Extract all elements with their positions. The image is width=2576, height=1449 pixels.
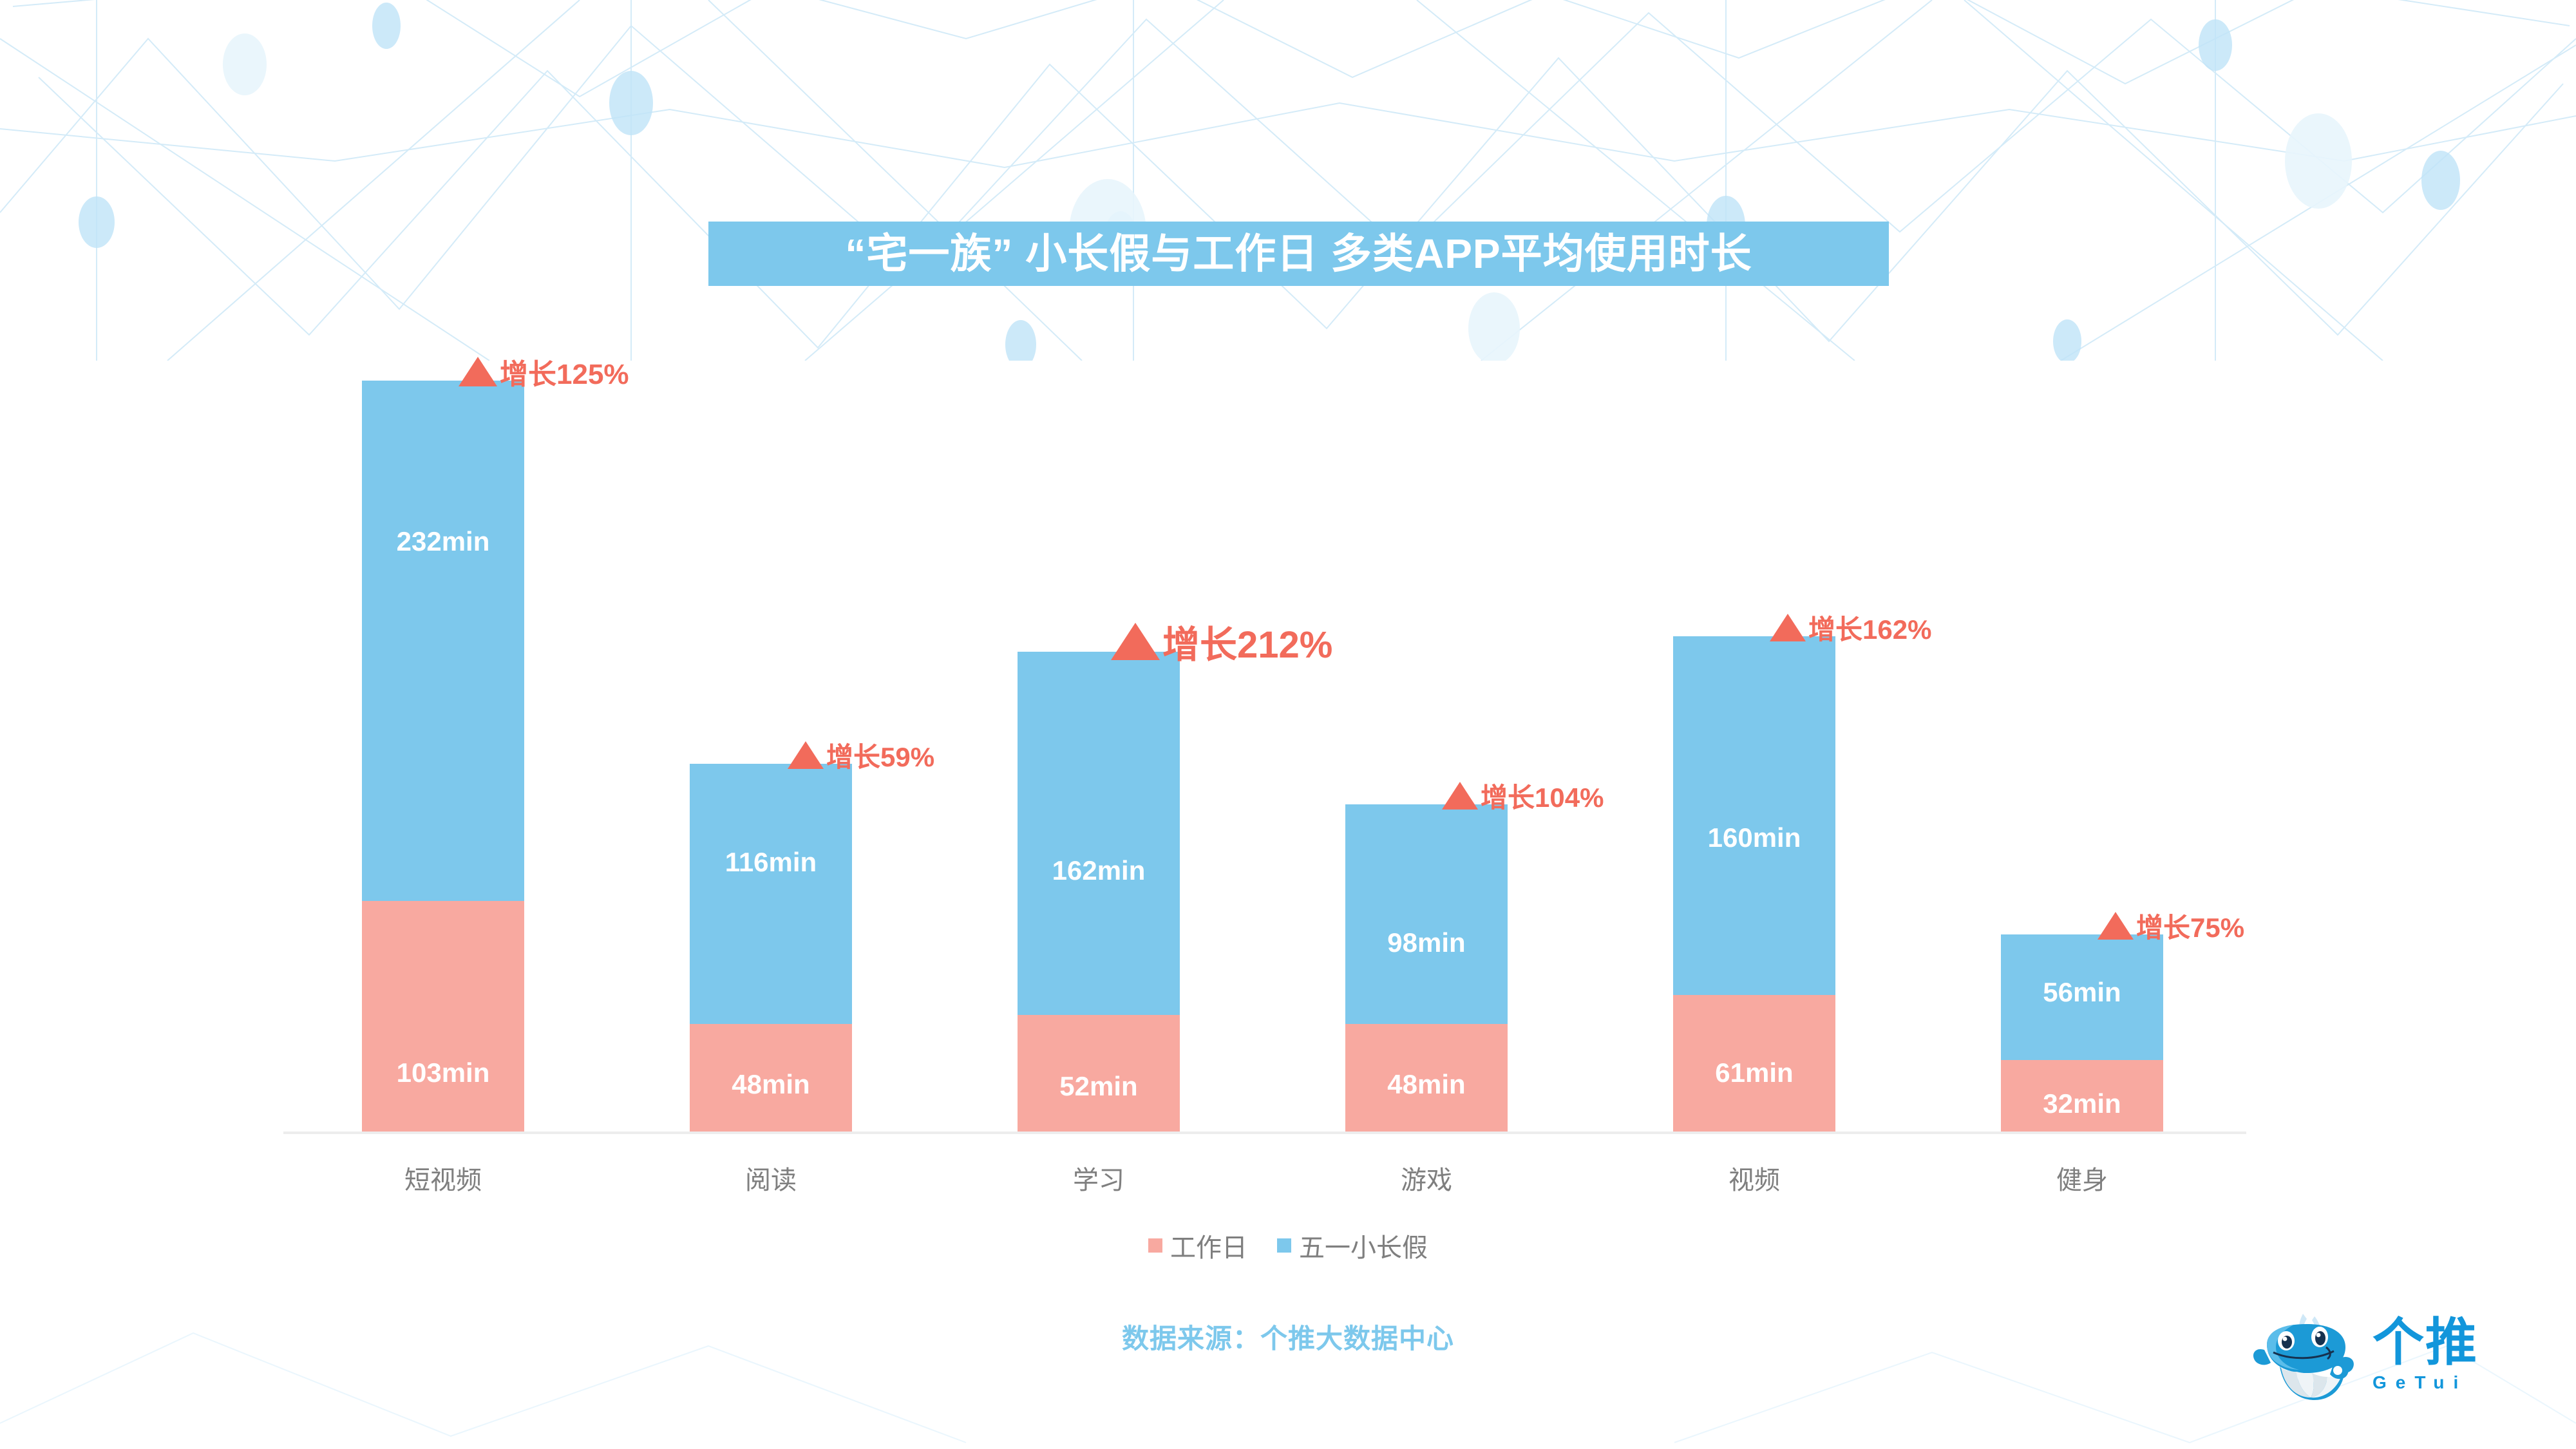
legend-swatch-icon [1148, 1238, 1162, 1253]
bar-stack-游戏[interactable]: 98min48min [1345, 804, 1508, 1132]
legend-label: 工作日 [1170, 1227, 1247, 1264]
bar-value-holiday-视频: 160min [1708, 822, 1801, 853]
up-triangle-icon [1770, 614, 1806, 641]
growth-annotation-阅读: 增长59% [788, 735, 934, 775]
growth-annotation-视频: 增长162% [1770, 608, 1931, 647]
bar-segment-holiday-学习[interactable]: 162min [1018, 652, 1180, 1015]
growth-annotation-text: 增长212% [1162, 614, 1332, 668]
bar-segment-holiday-阅读[interactable]: 116min [690, 764, 852, 1024]
bar-value-workday-阅读: 48min [732, 1069, 810, 1100]
bar-segment-workday-视频[interactable]: 61min [1673, 995, 1835, 1132]
bar-segment-workday-学习[interactable]: 52min [1018, 1015, 1180, 1132]
bar-value-holiday-阅读: 116min [725, 847, 817, 878]
growth-annotation-text: 增长104% [1481, 776, 1604, 815]
bar-value-workday-学习: 52min [1059, 1071, 1137, 1102]
up-triangle-icon [1442, 782, 1478, 810]
whale-icon [2248, 1307, 2363, 1404]
growth-annotation-短视频: 增长125% [459, 351, 629, 392]
bar-segment-holiday-健身[interactable]: 56min [2001, 934, 2163, 1060]
bar-segment-holiday-游戏[interactable]: 98min [1345, 804, 1508, 1024]
legend-swatch-icon [1277, 1238, 1291, 1253]
bar-stack-健身[interactable]: 56min32min [2001, 934, 2163, 1132]
data-source-note: 数据来源：个推大数据中心 [0, 1317, 2576, 1356]
up-triangle-icon [459, 357, 497, 386]
growth-annotation-text: 增长125% [500, 351, 629, 392]
bar-value-workday-短视频: 103min [397, 1057, 490, 1088]
growth-annotation-text: 增长162% [1808, 608, 1931, 647]
bar-value-holiday-学习: 162min [1052, 855, 1146, 886]
bar-segment-workday-阅读[interactable]: 48min [690, 1024, 852, 1132]
bar-segment-holiday-短视频[interactable]: 232min [362, 381, 524, 900]
x-axis-label-短视频: 短视频 [362, 1159, 524, 1197]
bar-value-workday-视频: 61min [1715, 1057, 1793, 1088]
bar-segment-holiday-视频[interactable]: 160min [1673, 636, 1835, 995]
x-axis-label-游戏: 游戏 [1345, 1159, 1508, 1197]
logo-chinese-name: 个推 [2372, 1318, 2478, 1367]
bar-value-holiday-游戏: 98min [1387, 927, 1465, 958]
bar-segment-workday-游戏[interactable]: 48min [1345, 1024, 1508, 1132]
growth-annotation-text: 增长75% [2136, 906, 2244, 945]
legend-item-0[interactable]: 工作日 [1148, 1227, 1247, 1264]
bar-stack-阅读[interactable]: 116min48min [690, 764, 852, 1132]
getui-logo: 个推 GeTui [2248, 1288, 2544, 1423]
logo-wordmark: 个推 GeTui [2372, 1318, 2478, 1393]
up-triangle-icon [2098, 912, 2134, 940]
legend-item-1[interactable]: 五一小长假 [1277, 1227, 1428, 1264]
up-triangle-icon [1111, 623, 1160, 660]
chart-legend: 工作日五一小长假 [0, 1227, 2576, 1264]
x-axis-label-阅读: 阅读 [690, 1159, 852, 1197]
logo-latin-name: GeTui [2372, 1372, 2478, 1393]
up-triangle-icon [788, 741, 824, 769]
bar-stack-短视频[interactable]: 232min103min [362, 381, 524, 1132]
bar-value-holiday-短视频: 232min [397, 526, 490, 557]
bar-stack-学习[interactable]: 162min52min [1018, 652, 1180, 1132]
x-axis-line [283, 1132, 2246, 1134]
x-axis-label-健身: 健身 [2001, 1159, 2163, 1197]
x-axis-label-视频: 视频 [1673, 1159, 1835, 1197]
legend-label: 五一小长假 [1299, 1227, 1428, 1264]
growth-annotation-text: 增长59% [826, 735, 934, 775]
bar-segment-workday-短视频[interactable]: 103min [362, 901, 524, 1132]
x-axis-label-学习: 学习 [1018, 1159, 1180, 1197]
bar-stack-视频[interactable]: 160min61min [1673, 636, 1835, 1132]
bar-segment-workday-健身[interactable]: 32min [2001, 1060, 2163, 1132]
bar-value-holiday-健身: 56min [2043, 977, 2121, 1008]
growth-annotation-健身: 增长75% [2098, 906, 2244, 945]
bar-value-workday-游戏: 48min [1387, 1069, 1465, 1100]
growth-annotation-学习: 增长212% [1111, 614, 1332, 668]
growth-annotation-游戏: 增长104% [1442, 776, 1604, 815]
bar-value-workday-健身: 32min [2043, 1088, 2121, 1119]
